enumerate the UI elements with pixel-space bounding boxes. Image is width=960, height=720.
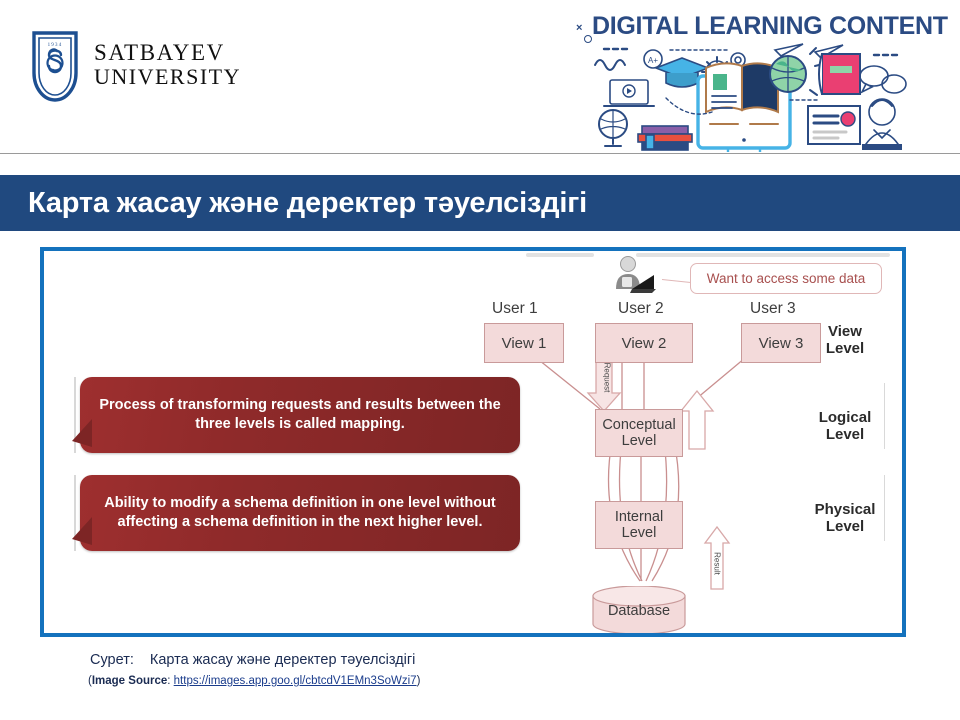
slide-header: 1934 SATBAYEV UNIVERSITY × DIGITAL LEARN… (0, 0, 960, 155)
figure-source: (Image Source: https://images.app.goo.gl… (88, 675, 420, 687)
database-label: Database (591, 603, 687, 619)
figure-caption: Сурет:Карта жасау және деректер тәуелсіз… (90, 652, 415, 668)
conceptual-level-line2: Level (622, 433, 657, 449)
logo-year-text: 1934 (48, 43, 63, 48)
figure-frame: Want to access some data (40, 247, 906, 637)
level-caption-physical-line1: Physical (800, 501, 890, 518)
page-title: Карта жасау және деректер тәуелсіздігі (28, 187, 587, 220)
level-caption-logical-line2: Level (800, 426, 890, 443)
internal-level-line2: Level (622, 525, 657, 541)
source-close-paren: ) (417, 675, 421, 687)
user-label-3: User 3 (750, 300, 796, 318)
result-arrow-label: Result (713, 549, 722, 579)
callout-text-1: Process of transforming requests and res… (80, 396, 520, 433)
conceptual-level-line1: Conceptual (602, 417, 675, 433)
level-caption-physical: Physical Level (800, 501, 890, 536)
figure-caption-text: Карта жасау және деректер тәуелсіздігі (150, 652, 416, 668)
slide-root: 1934 SATBAYEV UNIVERSITY × DIGITAL LEARN… (0, 0, 960, 720)
digital-learning-banner: × DIGITAL LEARNING CONTENT (470, 2, 960, 152)
slide-title-bar: Карта жасау және деректер тәуелсіздігі (0, 175, 960, 231)
source-url-link[interactable]: https://images.app.goo.gl/cbtcdV1EMn3SoW… (174, 675, 417, 687)
source-label: Image Source (92, 675, 167, 687)
callout-box-1: Process of transforming requests and res… (80, 377, 520, 453)
level-caption-logical-line1: Logical (800, 409, 890, 426)
callout-text-2: Ability to modify a schema definition in… (80, 494, 520, 531)
callout-notch-1-icon (70, 419, 94, 449)
callout-box-2: Ability to modify a schema definition in… (80, 475, 520, 551)
request-arrow-label: Request (603, 363, 612, 393)
banner-illustration: A+ (470, 2, 960, 152)
callout-notch-2-icon (70, 517, 94, 547)
university-logo-block: 1934 SATBAYEV UNIVERSITY (30, 25, 241, 103)
university-name-line2: UNIVERSITY (94, 66, 241, 88)
view-box-1[interactable]: View 1 (484, 323, 564, 363)
caption-divider-1 (884, 383, 885, 449)
internal-level-line1: Internal (615, 509, 663, 525)
university-logo-text: SATBAYEV UNIVERSITY (94, 41, 241, 88)
level-caption-view-line1: View (800, 323, 890, 340)
level-caption-view: View Level (800, 323, 890, 358)
view-box-2-label: View 2 (622, 335, 667, 352)
header-divider (0, 153, 960, 154)
university-name-line1: SATBAYEV (94, 41, 241, 64)
conceptual-level-box[interactable]: Conceptual Level (595, 409, 683, 457)
view-box-1-label: View 1 (502, 335, 547, 352)
level-caption-physical-line2: Level (800, 518, 890, 535)
user-label-2: User 2 (618, 300, 664, 318)
level-caption-view-line2: Level (800, 340, 890, 357)
figure-canvas: Want to access some data (44, 251, 902, 633)
level-caption-logical: Logical Level (800, 409, 890, 444)
svg-text:A+: A+ (648, 56, 658, 65)
internal-level-box[interactable]: Internal Level (595, 501, 683, 549)
caption-divider-2 (884, 475, 885, 541)
satbayev-shield-logo-icon: 1934 (30, 25, 80, 103)
view-box-2[interactable]: View 2 (595, 323, 693, 363)
view-box-3-label: View 3 (759, 335, 804, 352)
user-label-1: User 1 (492, 300, 538, 318)
figure-caption-label: Сурет: (90, 652, 134, 668)
